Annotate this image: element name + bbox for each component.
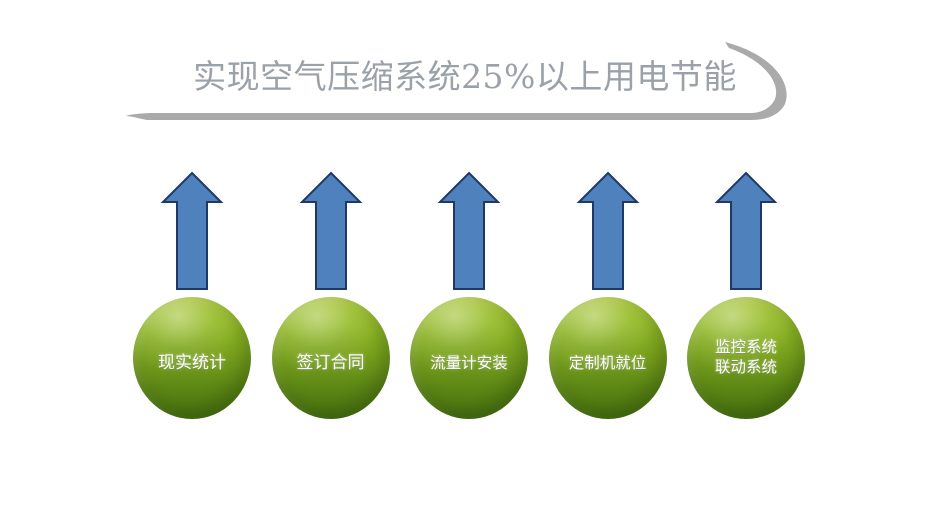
page-title: 实现空气压缩系统25%以上用电节能: [155, 46, 775, 108]
arrow-up-icon: [714, 170, 778, 292]
arrow-cell-5: [687, 170, 805, 294]
step-sphere-row: 现实统计 签订合同 流量计安装 定制机就位 监控系统 联动系统: [133, 296, 805, 420]
step-sphere-2[interactable]: 签订合同: [272, 297, 390, 419]
step-sphere-1[interactable]: 现实统计: [133, 297, 251, 419]
step-label: 流量计安装: [426, 354, 512, 374]
arrow-up-icon: [576, 170, 640, 292]
slide-canvas: 实现空气压缩系统25%以上用电节能: [0, 0, 945, 529]
arrow-cell-3: [410, 170, 528, 294]
arrow-cell-4: [549, 170, 667, 294]
arrow-row: [133, 170, 805, 294]
step-label: 定制机就位: [565, 354, 651, 374]
step-sphere-4[interactable]: 定制机就位: [549, 297, 667, 419]
step-label: 现实统计: [154, 353, 230, 375]
step-sphere-3[interactable]: 流量计安装: [410, 297, 528, 419]
arrow-up-icon: [160, 170, 224, 292]
arrow-up-icon: [299, 170, 363, 292]
title-banner: 实现空气压缩系统25%以上用电节能: [125, 36, 805, 136]
step-label: 监控系统 联动系统: [711, 338, 781, 378]
step-label: 签订合同: [293, 353, 369, 375]
step-sphere-5[interactable]: 监控系统 联动系统: [687, 297, 805, 419]
arrow-cell-1: [133, 170, 251, 294]
arrow-cell-2: [272, 170, 390, 294]
arrow-up-icon: [437, 170, 501, 292]
